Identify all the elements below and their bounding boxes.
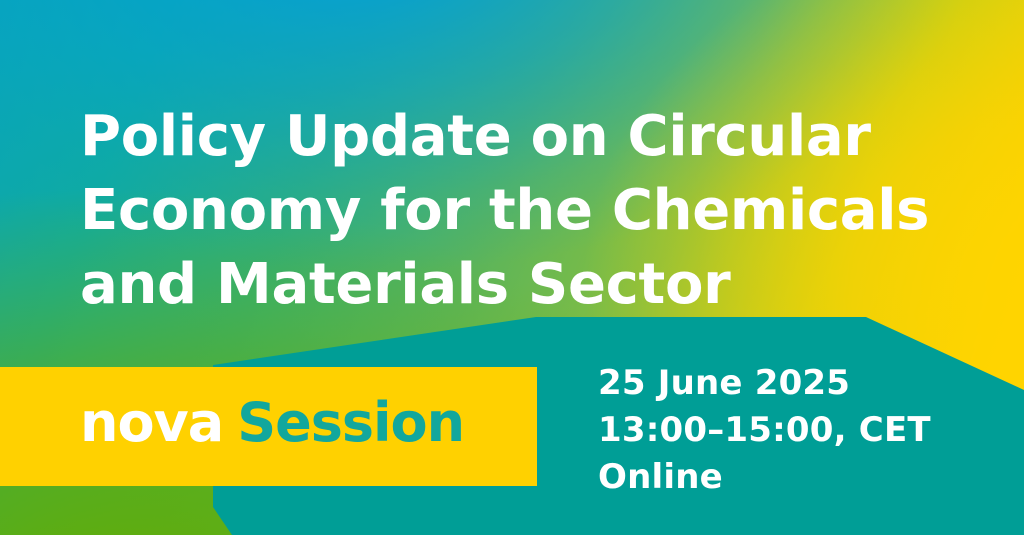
event-date: 25 June 2025 (598, 360, 931, 407)
page-title: Policy Update on Circular Economy for th… (80, 100, 960, 322)
logo-brand-nova: nova (80, 396, 223, 450)
event-location: Online (598, 454, 931, 501)
event-banner: Policy Update on Circular Economy for th… (0, 0, 1024, 535)
event-time: 13:00–15:00, CET (598, 407, 931, 454)
logo-product-session: Session (237, 396, 464, 450)
nova-session-logo: nova Session (80, 396, 464, 450)
event-details: 25 June 2025 13:00–15:00, CET Online (598, 360, 931, 501)
